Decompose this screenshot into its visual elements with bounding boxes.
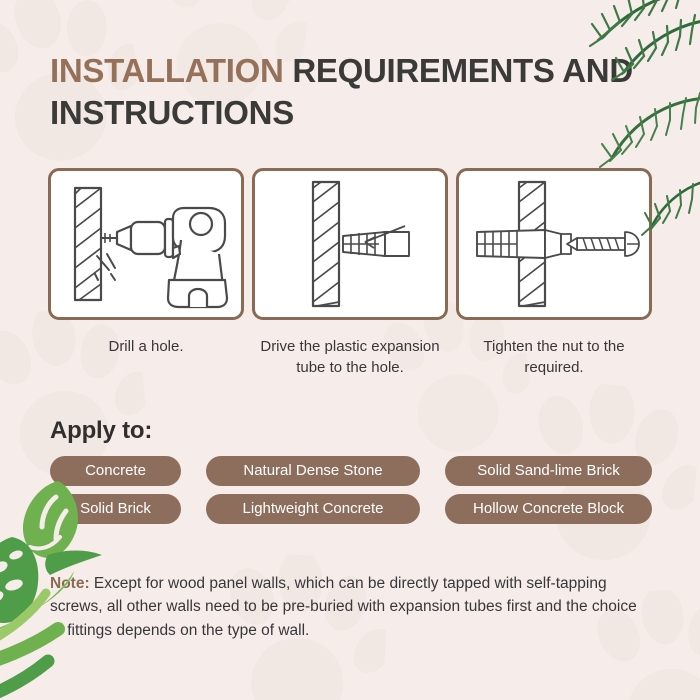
step-card-1 bbox=[48, 168, 244, 320]
material-pill-hollow-concrete-block[interactable]: Hollow Concrete Block bbox=[445, 494, 652, 524]
apply-to-pill-row: Solid Brick Lightweight Concrete Hollow … bbox=[50, 494, 652, 524]
step-card-2 bbox=[252, 168, 448, 320]
screw-into-anchor-icon bbox=[461, 174, 647, 314]
step-caption-1: Drill a hole. bbox=[48, 336, 244, 379]
step-caption-row: Drill a hole. Drive the plastic expansio… bbox=[48, 336, 652, 379]
step-card-3 bbox=[456, 168, 652, 320]
step-caption-3: Tighten the nut to the required. bbox=[456, 336, 652, 379]
page-title: INSTALLATION REQUIREMENTS AND INSTRUCTIO… bbox=[50, 50, 650, 134]
material-pill-solid-brick[interactable]: Solid Brick bbox=[50, 494, 181, 524]
material-pill-concrete[interactable]: Concrete bbox=[50, 456, 181, 486]
page-title-highlight: INSTALLATION bbox=[50, 52, 283, 89]
apply-to-heading: Apply to: bbox=[50, 417, 152, 445]
step-diagram-row bbox=[48, 168, 652, 320]
material-pill-solid-sand-lime-brick[interactable]: Solid Sand-lime Brick bbox=[445, 456, 652, 486]
note-block: Note: Except for wood panel walls, which… bbox=[50, 572, 645, 642]
drill-into-wall-icon bbox=[53, 174, 239, 314]
material-pill-lightweight-concrete[interactable]: Lightweight Concrete bbox=[206, 494, 420, 524]
apply-to-pill-group: Concrete Natural Dense Stone Solid Sand-… bbox=[50, 456, 652, 532]
expansion-tube-into-wall-icon bbox=[257, 174, 443, 314]
material-pill-natural-dense-stone[interactable]: Natural Dense Stone bbox=[206, 456, 420, 486]
infographic-page: INSTALLATION REQUIREMENTS AND INSTRUCTIO… bbox=[0, 0, 700, 700]
step-caption-2: Drive the plastic expansion tube to the … bbox=[252, 336, 448, 379]
note-text: Except for wood panel walls, which can b… bbox=[50, 575, 637, 639]
note-label: Note: bbox=[50, 575, 90, 592]
apply-to-pill-row: Concrete Natural Dense Stone Solid Sand-… bbox=[50, 456, 652, 486]
